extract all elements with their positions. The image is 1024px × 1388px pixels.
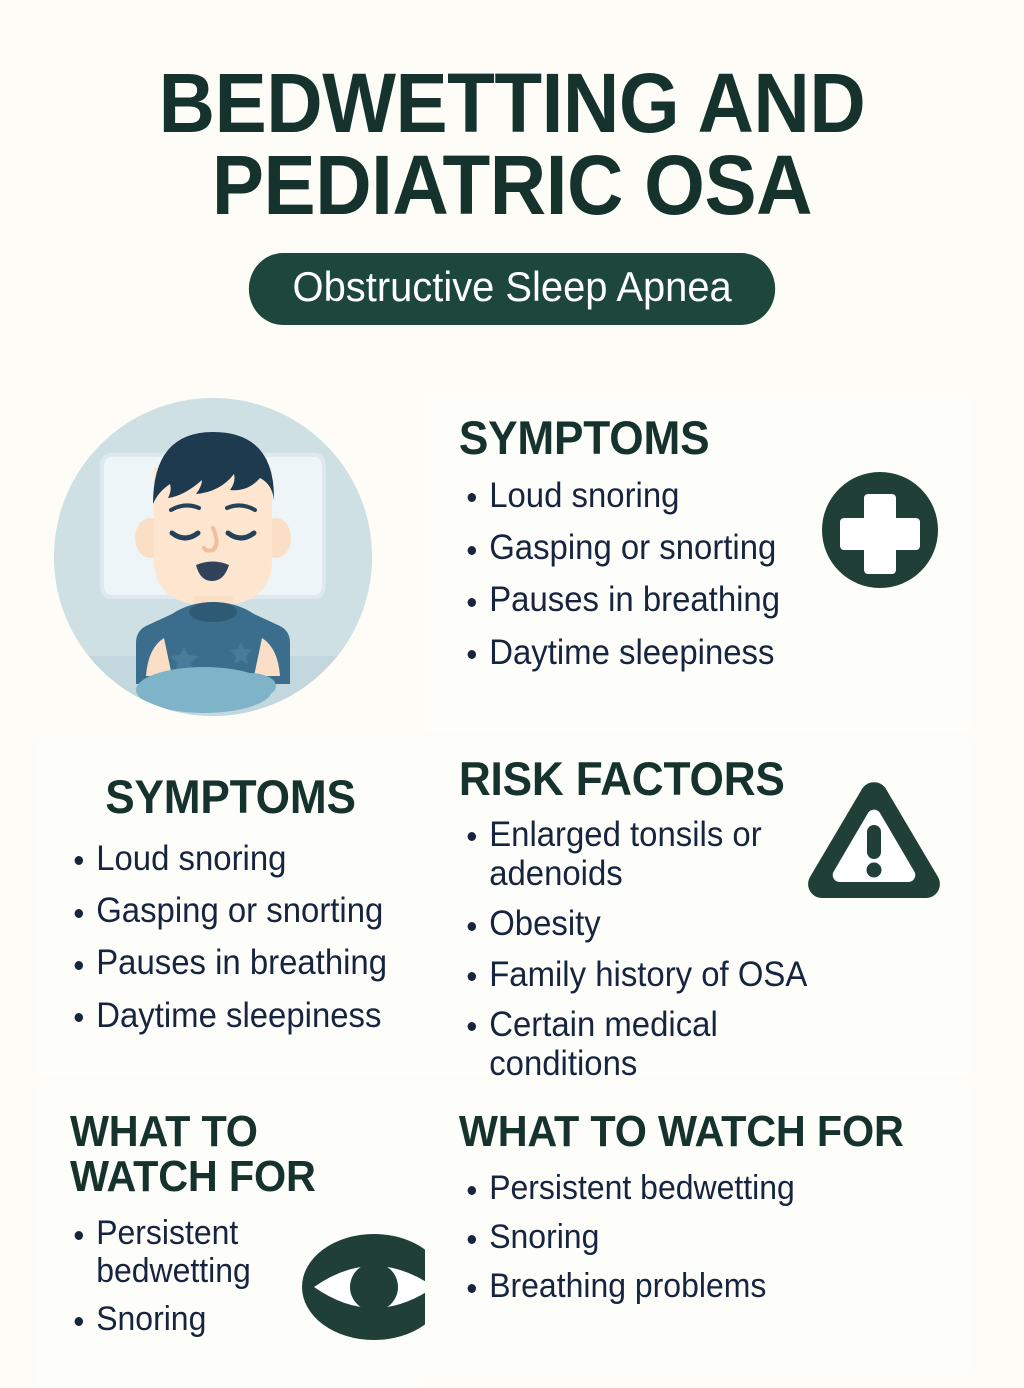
subtitle-badge: Obstructive Sleep Apnea (249, 253, 776, 325)
watch-left-title: WHAT TO WATCH FOR (38, 1082, 400, 1200)
panel-symptoms-top: SYMPTOMS Loud snoring Gasping or snortin… (425, 392, 970, 732)
panel-watch-left: WHAT TO WATCH FOR Persistent bedwetting … (38, 1082, 423, 1388)
sleeping-child-illustration (54, 398, 372, 716)
page-title: BEDWETTING AND PEDIATRIC OSA (36, 62, 988, 227)
list-item: Snoring (461, 1218, 903, 1256)
list-item: Certain medical conditions (461, 1005, 875, 1083)
list-item: Persistent bedwetting (461, 1169, 903, 1207)
medical-cross-icon (820, 470, 940, 590)
list-item: Breathing problems (461, 1267, 903, 1305)
list-item: Daytime sleepiness (68, 996, 402, 1035)
warning-triangle-icon (802, 779, 946, 907)
list-item: Family history of OSA (461, 955, 875, 994)
list-item: Gasping or snorting (461, 528, 865, 567)
symptoms-left-list: Loud snoring Gasping or snorting Pauses … (38, 821, 423, 1035)
sleeping-child-icon (54, 398, 372, 716)
panel-watch-right: WHAT TO WATCH FOR Persistent bedwetting … (425, 1082, 970, 1376)
list-item: Pauses in breathing (68, 943, 402, 982)
watch-left-list: Persistent bedwetting Snoring (38, 1200, 308, 1338)
symptoms-top-title: SYMPTOMS (425, 392, 937, 462)
list-item: Obesity (461, 904, 875, 943)
list-item: Snoring (68, 1300, 294, 1338)
list-item: Persistent bedwetting (68, 1214, 294, 1290)
watch-right-list: Persistent bedwetting Snoring Breathing … (425, 1155, 931, 1305)
subtitle-container: Obstructive Sleep Apnea (0, 253, 1024, 325)
header: BEDWETTING AND PEDIATRIC OSA Obstructive… (0, 62, 1024, 325)
infographic-page: BEDWETTING AND PEDIATRIC OSA Obstructive… (0, 0, 1024, 1388)
watch-right-title: WHAT TO WATCH FOR (425, 1082, 937, 1155)
list-item: Loud snoring (68, 839, 402, 878)
illustration-card (38, 388, 392, 733)
list-item: Pauses in breathing (461, 580, 865, 619)
list-item: Gasping or snorting (68, 891, 402, 930)
list-item: Loud snoring (461, 476, 865, 515)
symptoms-left-title: SYMPTOMS (50, 737, 412, 821)
list-item: Daytime sleepiness (461, 633, 865, 672)
panel-risk-factors: RISK FACTORS Enlarged tonsils or adenoid… (425, 737, 970, 1077)
panel-symptoms-left: SYMPTOMS Loud snoring Gasping or snortin… (38, 737, 423, 1077)
